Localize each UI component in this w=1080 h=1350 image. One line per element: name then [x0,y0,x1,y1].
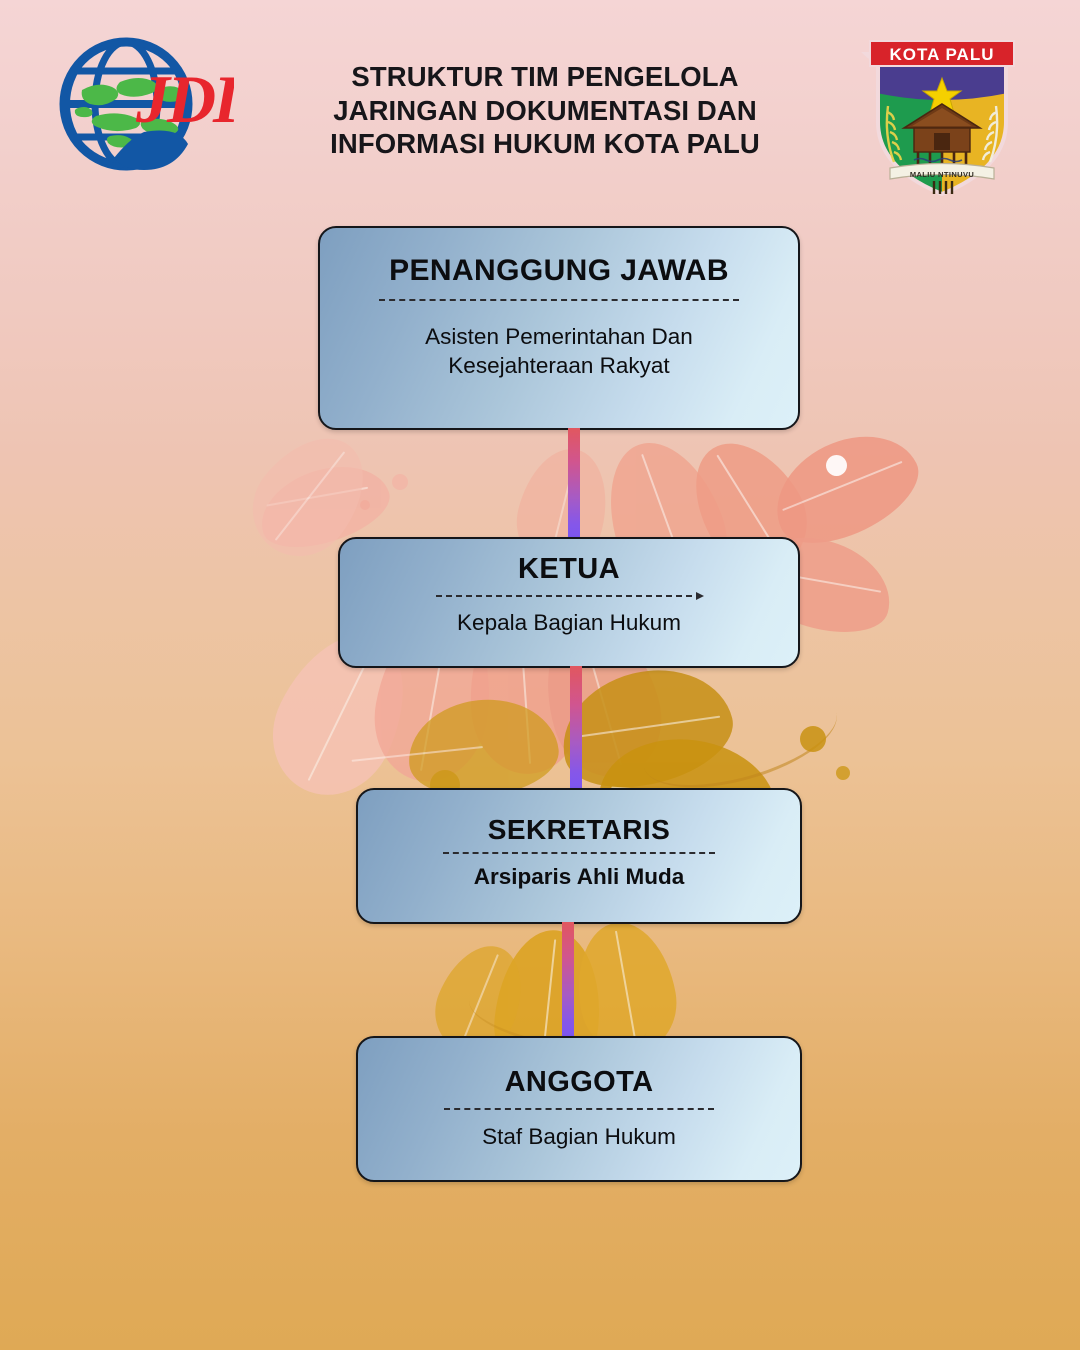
org-node-subtitle: Asisten Pemerintahan Dan Kesejahteraan R… [425,323,693,381]
org-node-ketua[interactable]: KETUA Kepala Bagian Hukum [338,537,800,668]
header: JDIHN STRUKTUR TIM PENGELOLA JARINGAN DO… [0,0,1080,200]
org-node-subtitle: Staf Bagian Hukum [482,1123,676,1152]
title-line-1: STRUKTUR TIM PENGELOLA [305,60,785,94]
accent-dot-gold [800,726,826,752]
page-title: STRUKTUR TIM PENGELOLA JARINGAN DOKUMENT… [305,60,785,161]
org-node-subtitle-line: Kesejahteraan Rakyat [425,352,693,381]
leaf-gold [403,692,562,803]
org-node-subtitle: Kepala Bagian Hukum [457,609,681,638]
accent-dot-white [826,455,847,476]
node-divider [379,299,739,301]
org-node-title: ANGGOTA [505,1066,654,1099]
connector-sekretaris-to-anggota [562,922,574,1039]
node-divider [443,852,715,854]
leaf-stem [633,674,847,806]
accent-dot-gold [836,766,850,780]
connector-ketua-to-sekretaris [570,666,582,791]
emblem-banner-text: KOTA PALU [889,45,994,64]
title-line-3: INFORMASI HUKUM KOTA PALU [305,127,785,161]
org-node-anggota[interactable]: ANGGOTA Staf Bagian Hukum [356,1036,802,1182]
jdihn-logo: JDIHN [48,24,234,184]
org-node-title: SEKRETARIS [488,814,670,846]
accent-dot-coral [392,474,408,490]
node-divider-arrow [436,595,702,597]
kota-palu-emblem: KOTA PALU [856,36,1028,196]
title-line-2: JARINGAN DOKUMENTASI DAN [305,94,785,128]
org-node-subtitle: Arsiparis Ahli Muda [474,863,684,892]
svg-text:JDIHN: JDIHN [135,61,234,137]
org-node-subtitle-line: Asisten Pemerintahan Dan [425,323,693,352]
org-node-sekretaris[interactable]: SEKRETARIS Arsiparis Ahli Muda [356,788,802,924]
org-node-penanggung-jawab[interactable]: PENANGGUNG JAWAB Asisten Pemerintahan Da… [318,226,800,430]
org-node-title: PENANGGUNG JAWAB [389,254,729,288]
connector-pj-to-ketua [568,428,580,540]
org-node-title: KETUA [518,553,620,586]
accent-dot-coral [360,500,370,510]
node-divider [444,1108,714,1110]
emblem-motto-text: MALIU NTINUVU [910,170,974,179]
